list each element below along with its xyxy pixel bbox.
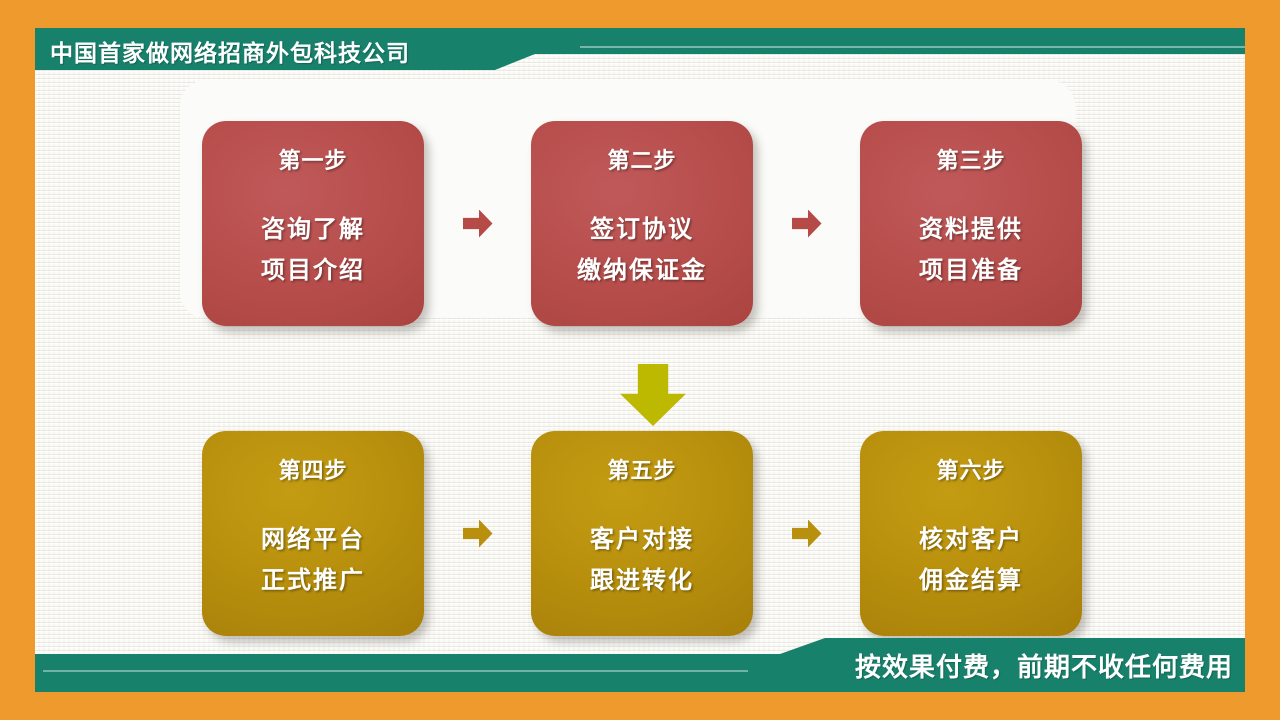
slide-inner-canvas: 中国首家做网络招商外包科技公司 第一步 咨询了解 项目介绍 第二步 签订协议 缴… xyxy=(35,28,1245,692)
step-line-2: 跟进转化 xyxy=(590,560,694,601)
step-line-2: 佣金结算 xyxy=(919,560,1023,601)
step-line-2: 项目准备 xyxy=(919,250,1023,291)
step-title: 第五步 xyxy=(607,453,676,485)
footer-hairline xyxy=(43,670,748,672)
step-line-1: 签订协议 xyxy=(590,209,694,250)
step-title: 第四步 xyxy=(278,453,347,485)
step-card-5[interactable]: 第五步 客户对接 跟进转化 xyxy=(531,431,753,636)
step-line-1: 网络平台 xyxy=(261,519,365,560)
step-line-1: 咨询了解 xyxy=(261,209,365,250)
footer-tagline: 按效果付费，前期不收任何费用 xyxy=(855,647,1233,684)
arrow-right-icon xyxy=(753,209,860,239)
step-title: 第六步 xyxy=(936,453,1005,485)
arrow-right-icon xyxy=(753,519,860,549)
header-hairline xyxy=(580,46,1245,48)
step-line-2: 缴纳保证金 xyxy=(577,250,707,291)
step-line-1: 核对客户 xyxy=(919,519,1023,560)
step-line-2: 正式推广 xyxy=(261,560,365,601)
step-card-2[interactable]: 第二步 签订协议 缴纳保证金 xyxy=(531,121,753,326)
step-line-1: 客户对接 xyxy=(590,519,694,560)
header-band: 中国首家做网络招商外包科技公司 xyxy=(35,28,1245,70)
step-card-1[interactable]: 第一步 咨询了解 项目介绍 xyxy=(202,121,424,326)
slide-canvas: 中国首家做网络招商外包科技公司 第一步 咨询了解 项目介绍 第二步 签订协议 缴… xyxy=(0,0,1280,720)
step-title: 第二步 xyxy=(607,143,676,175)
steps-row-bottom: 第四步 网络平台 正式推广 第五步 客户对接 跟进转化 第六步 核对客户 佣金结… xyxy=(202,416,1082,651)
step-card-3[interactable]: 第三步 资料提供 项目准备 xyxy=(860,121,1082,326)
step-title: 第一步 xyxy=(278,143,347,175)
page-title: 中国首家做网络招商外包科技公司 xyxy=(50,34,410,68)
step-card-4[interactable]: 第四步 网络平台 正式推广 xyxy=(202,431,424,636)
arrow-right-icon xyxy=(424,519,531,549)
step-card-6[interactable]: 第六步 核对客户 佣金结算 xyxy=(860,431,1082,636)
steps-row-top: 第一步 咨询了解 项目介绍 第二步 签订协议 缴纳保证金 第三步 资料提供 项目… xyxy=(202,106,1082,341)
step-line-1: 资料提供 xyxy=(919,209,1023,250)
arrow-right-icon xyxy=(424,209,531,239)
step-title: 第三步 xyxy=(936,143,1005,175)
step-line-2: 项目介绍 xyxy=(261,250,365,291)
